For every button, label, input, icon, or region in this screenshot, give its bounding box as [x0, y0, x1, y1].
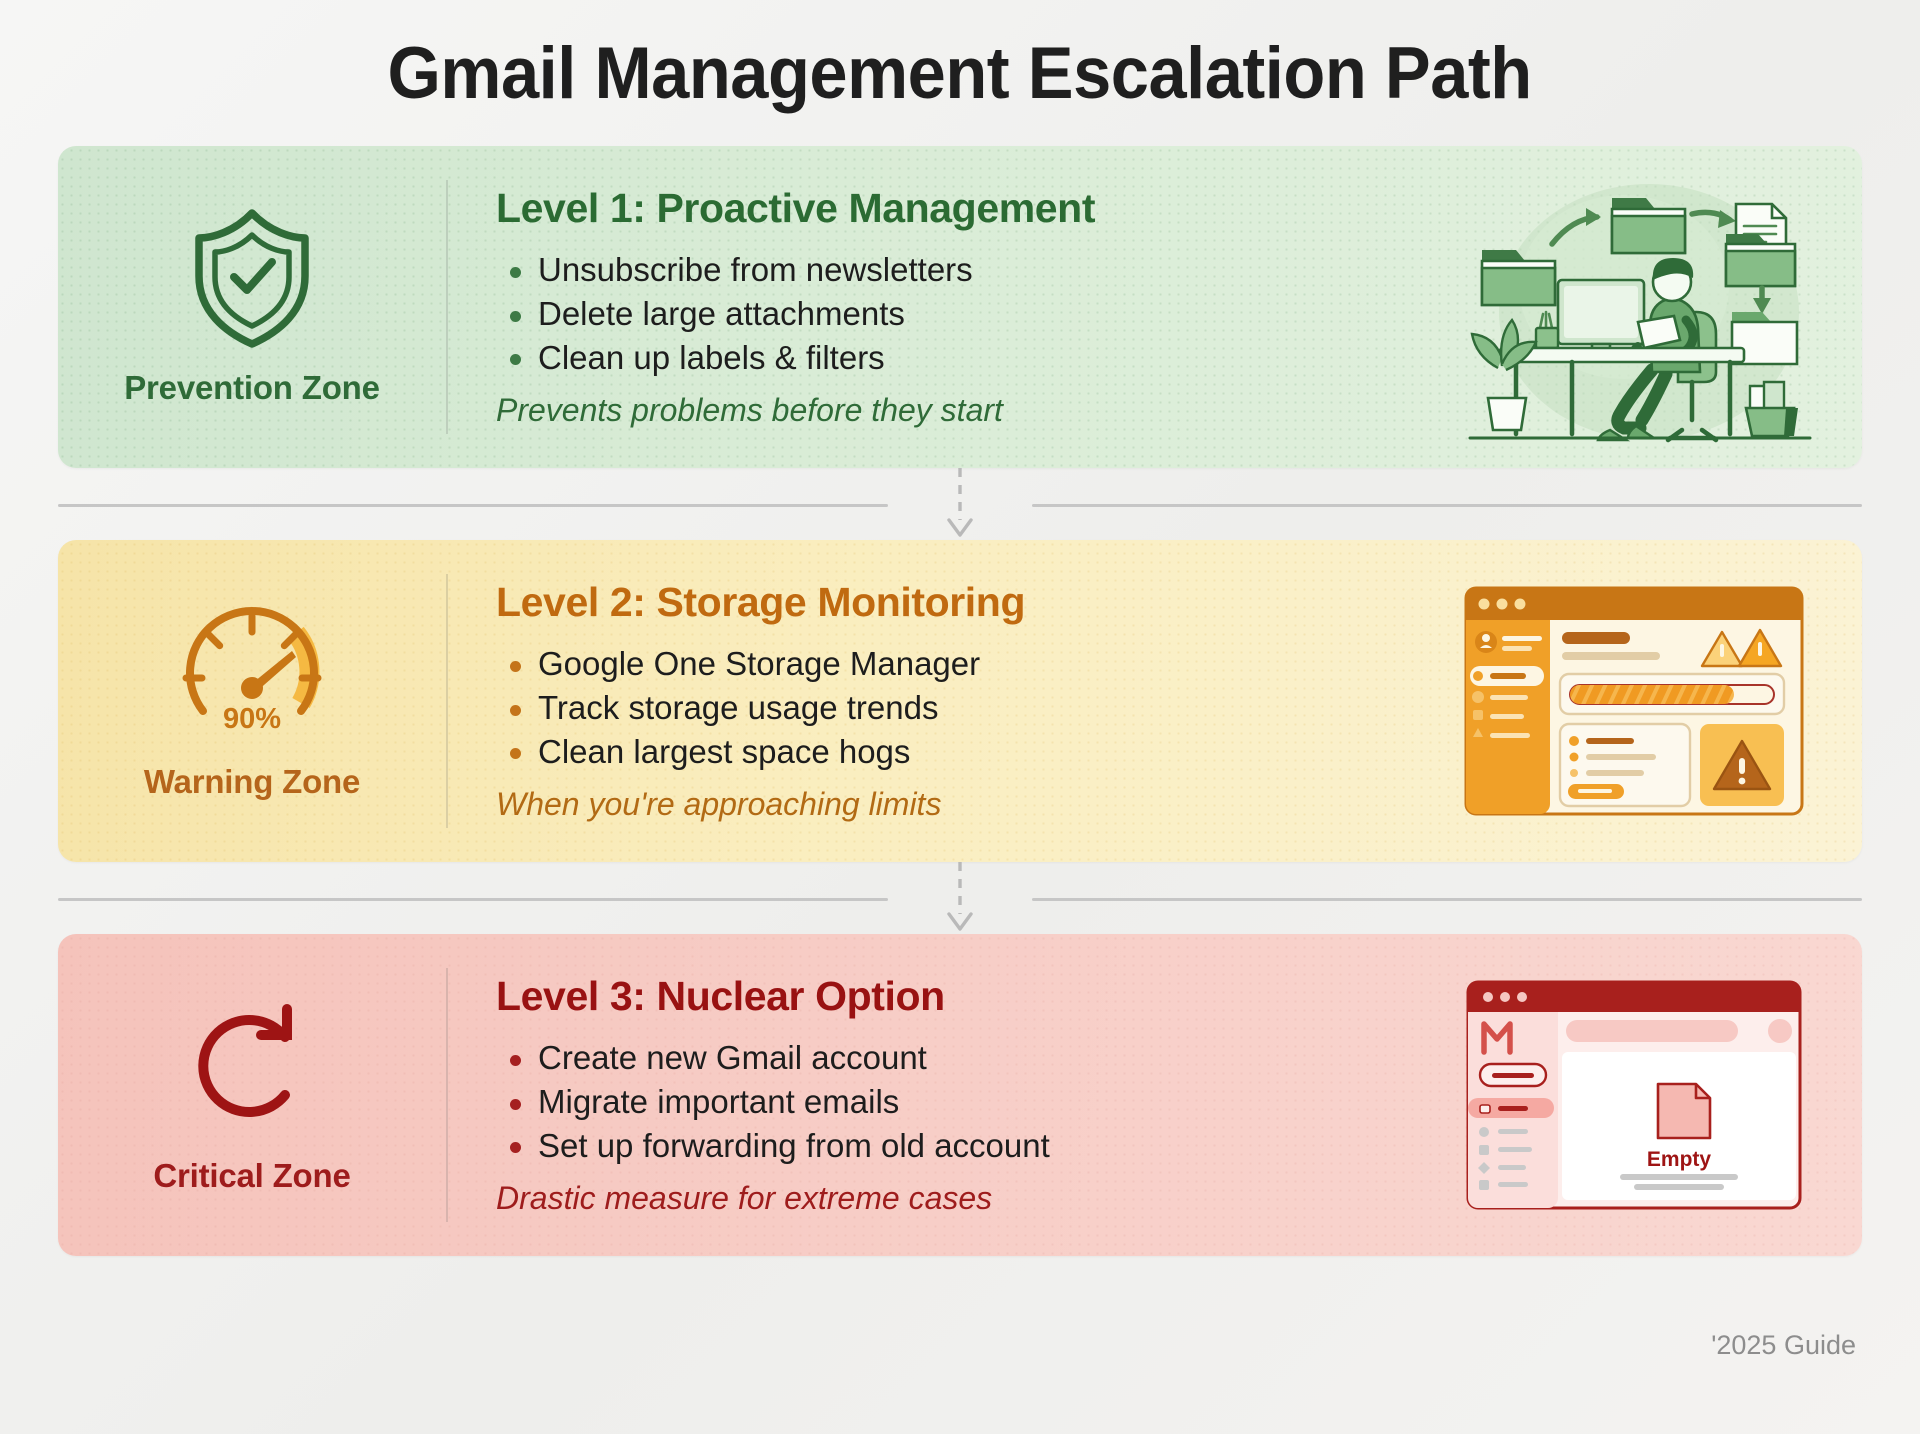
connector-1-2: [58, 468, 1862, 540]
list-item: Google One Storage Manager: [538, 642, 1422, 686]
connector-rule-right: [1032, 504, 1862, 507]
level-1-body: Level 1: Proactive Management Unsubscrib…: [446, 180, 1432, 434]
level-1-tagline: Prevents problems before they start: [496, 392, 1422, 429]
level-3-tagline: Drastic measure for extreme cases: [496, 1180, 1422, 1217]
zone-label: Warning Zone: [144, 763, 360, 801]
critical-zone: Critical Zone: [58, 934, 446, 1256]
footer-note: '2025 Guide: [1711, 1330, 1856, 1361]
zone-label: Prevention Zone: [124, 369, 380, 407]
list-item: Create new Gmail account: [538, 1036, 1422, 1080]
person-organizing-folders-illustration: [1432, 146, 1862, 468]
level-3-panel: Critical Zone Level 3: Nuclear Option Cr…: [58, 934, 1862, 1256]
level-3-body: Level 3: Nuclear Option Create new Gmail…: [446, 968, 1432, 1222]
connector-rule-right: [1032, 898, 1862, 901]
warning-zone: 90% Warning Zone: [58, 540, 446, 862]
level-1-bullet-list: Unsubscribe from newsletters Delete larg…: [496, 248, 1422, 380]
empty-inbox-mockup-illustration: Empty: [1432, 934, 1862, 1256]
list-item: Migrate important emails: [538, 1080, 1422, 1124]
dashed-down-arrow-icon: [940, 468, 980, 540]
prevention-zone: Prevention Zone: [58, 146, 446, 468]
gauge-icon: 90%: [177, 597, 327, 747]
gauge-value-text: 90%: [223, 703, 281, 735]
list-item: Clean up labels & filters: [538, 336, 1422, 380]
title-bar: Gmail Management Escalation Path: [58, 0, 1862, 146]
infographic-page: Gmail Management Escalation Path Prevent…: [0, 0, 1920, 1434]
list-item: Unsubscribe from newsletters: [538, 248, 1422, 292]
zone-label: Critical Zone: [153, 1157, 350, 1195]
level-2-tagline: When you're approaching limits: [496, 786, 1422, 823]
list-item: Set up forwarding from old account: [538, 1124, 1422, 1168]
level-2-bullet-list: Google One Storage Manager Track storage…: [496, 642, 1422, 774]
list-item: Clean largest space hogs: [538, 730, 1422, 774]
connector-rule-left: [58, 898, 888, 901]
storage-dashboard-warning-illustration: [1432, 540, 1862, 862]
connector-2-3: [58, 862, 1862, 934]
footer: '2025 Guide: [58, 1256, 1862, 1434]
level-2-title: Level 2: Storage Monitoring: [496, 579, 1422, 626]
level-2-panel: 90% Warning Zone Level 2: Storage Monito…: [58, 540, 1862, 862]
level-1-panel: Prevention Zone Level 1: Proactive Manag…: [58, 146, 1862, 468]
level-1-title: Level 1: Proactive Management: [496, 185, 1422, 232]
level-3-bullet-list: Create new Gmail account Migrate importa…: [496, 1036, 1422, 1168]
empty-state-label: Empty: [1647, 1148, 1712, 1171]
restart-circular-arrow-icon: [177, 991, 327, 1141]
dashed-down-arrow-icon: [940, 862, 980, 934]
page-title: Gmail Management Escalation Path: [388, 32, 1532, 115]
level-3-title: Level 3: Nuclear Option: [496, 973, 1422, 1020]
level-2-body: Level 2: Storage Monitoring Google One S…: [446, 574, 1432, 828]
shield-check-icon: [177, 203, 327, 353]
list-item: Delete large attachments: [538, 292, 1422, 336]
connector-rule-left: [58, 504, 888, 507]
list-item: Track storage usage trends: [538, 686, 1422, 730]
